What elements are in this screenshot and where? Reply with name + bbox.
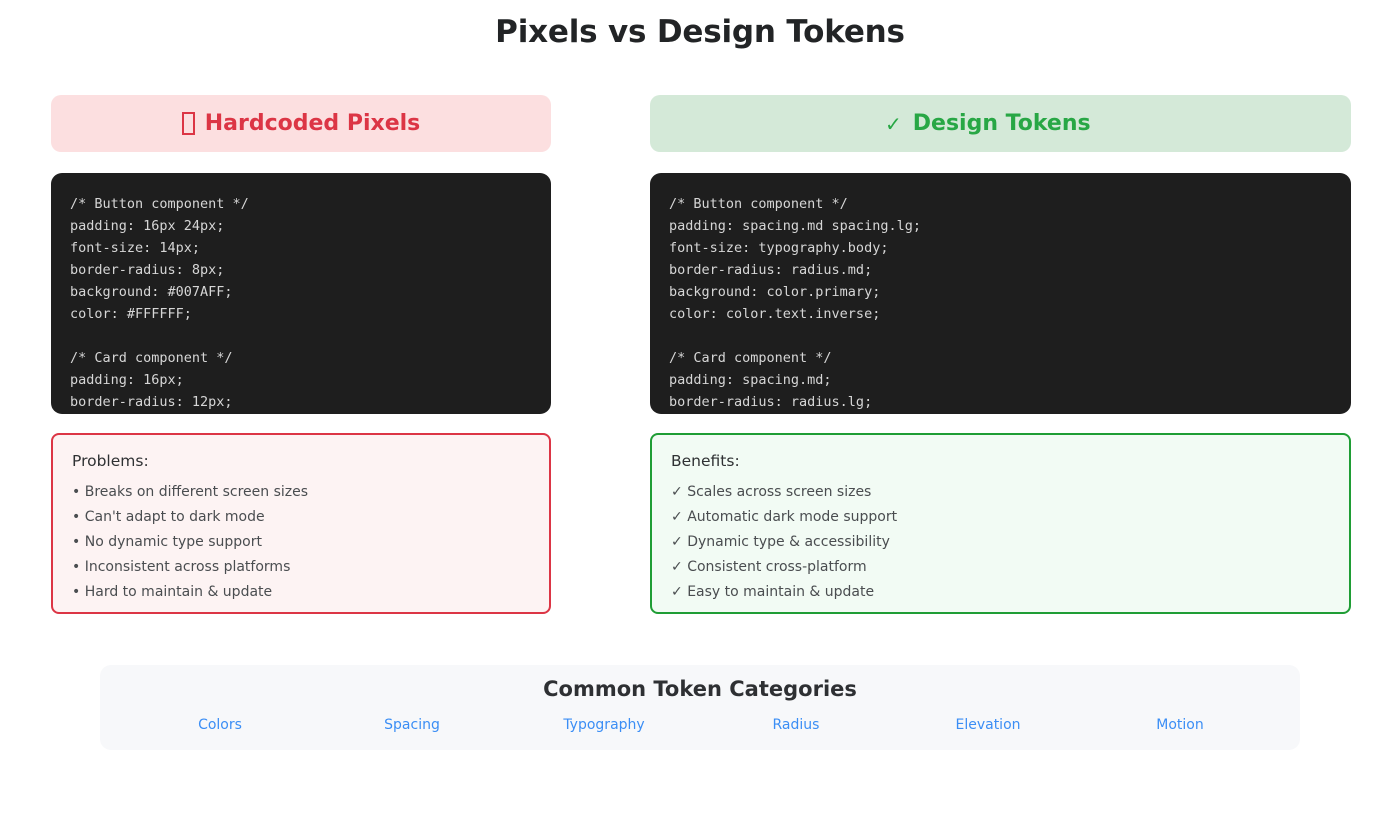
list-item: • Can't adapt to dark mode: [72, 505, 530, 530]
common-token-categories-panel: Common Token Categories Colors Spacing T…: [100, 665, 1300, 750]
category-item-radius[interactable]: Radius: [700, 717, 892, 733]
code-line: color: #FFFFFF;: [70, 303, 532, 325]
category-item-spacing[interactable]: Spacing: [316, 717, 508, 733]
check-mark-icon: ✓: [671, 559, 683, 575]
code-line: padding: 16px 24px;: [70, 215, 532, 237]
problems-title: Problems:: [72, 452, 530, 470]
bullet-icon: •: [72, 559, 80, 575]
design-tokens-header-label: Design Tokens: [913, 111, 1091, 136]
hardcoded-pixels-column: Hardcoded Pixels /* Button component */ …: [51, 95, 551, 614]
categories-row: Colors Spacing Typography Radius Elevati…: [100, 717, 1300, 733]
list-item-label: Automatic dark mode support: [687, 509, 897, 525]
code-line: border-radius: 12px;: [70, 391, 532, 413]
slide-canvas: Pixels vs Design Tokens Hardcoded Pixels…: [0, 0, 1400, 815]
code-line: /* Card component */: [70, 347, 532, 369]
code-line: border-radius: 8px;: [70, 259, 532, 281]
code-line: background: color.primary;: [669, 281, 1332, 303]
hardcoded-pixels-header: Hardcoded Pixels: [51, 95, 551, 152]
list-item-label: Dynamic type & accessibility: [687, 534, 890, 550]
categories-title: Common Token Categories: [100, 677, 1300, 701]
code-line: padding: spacing.md spacing.lg;: [669, 215, 1332, 237]
list-item: ✓ Dynamic type & accessibility: [671, 530, 1330, 555]
list-item: ✓ Easy to maintain & update: [671, 580, 1330, 605]
category-item-motion[interactable]: Motion: [1084, 717, 1276, 733]
problems-box: Problems: • Breaks on different screen s…: [51, 433, 551, 614]
list-item-label: Hard to maintain & update: [85, 584, 272, 600]
code-line: border-radius: radius.md;: [669, 259, 1332, 281]
code-line: padding: spacing.md;: [669, 369, 1332, 391]
list-item-label: Breaks on different screen sizes: [85, 484, 308, 500]
code-line: font-size: typography.body;: [669, 237, 1332, 259]
list-item: • Hard to maintain & update: [72, 580, 530, 605]
check-mark-icon: ✓: [671, 584, 683, 600]
code-line-blank: [669, 325, 1332, 347]
benefits-box: Benefits: ✓ Scales across screen sizes ✓…: [650, 433, 1351, 614]
list-item: ✓ Automatic dark mode support: [671, 505, 1330, 530]
design-tokens-header: ✓ Design Tokens: [650, 95, 1351, 152]
code-line: /* Card component */: [669, 347, 1332, 369]
list-item: • Inconsistent across platforms: [72, 555, 530, 580]
list-item: • No dynamic type support: [72, 530, 530, 555]
list-item: ✓ Scales across screen sizes: [671, 480, 1330, 505]
list-item-label: Scales across screen sizes: [687, 484, 871, 500]
check-mark-icon: ✓: [671, 534, 683, 550]
page-title: Pixels vs Design Tokens: [0, 14, 1400, 50]
design-tokens-column: ✓ Design Tokens /* Button component */ p…: [650, 95, 1351, 614]
code-line: padding: 16px;: [70, 369, 532, 391]
hardcoded-pixels-header-label: Hardcoded Pixels: [205, 111, 421, 136]
bullet-icon: •: [72, 509, 80, 525]
category-item-typography[interactable]: Typography: [508, 717, 700, 733]
bullet-icon: •: [72, 534, 80, 550]
code-line-blank: [70, 325, 532, 347]
code-line: /* Button component */: [669, 193, 1332, 215]
tofu-missing-glyph-icon: [182, 112, 195, 135]
benefits-title: Benefits:: [671, 452, 1330, 470]
category-item-elevation[interactable]: Elevation: [892, 717, 1084, 733]
list-item-label: Inconsistent across platforms: [85, 559, 291, 575]
list-item-label: Consistent cross-platform: [687, 559, 866, 575]
code-line: border-radius: radius.lg;: [669, 391, 1332, 413]
code-line: /* Button component */: [70, 193, 532, 215]
category-item-colors[interactable]: Colors: [124, 717, 316, 733]
code-line: background: #007AFF;: [70, 281, 532, 303]
design-tokens-code-block: /* Button component */ padding: spacing.…: [650, 173, 1351, 414]
bullet-icon: •: [72, 484, 80, 500]
list-item: • Breaks on different screen sizes: [72, 480, 530, 505]
list-item-label: No dynamic type support: [85, 534, 262, 550]
code-line: font-size: 14px;: [70, 237, 532, 259]
list-item-label: Can't adapt to dark mode: [85, 509, 265, 525]
check-mark-icon: ✓: [671, 509, 683, 525]
list-item: ✓ Consistent cross-platform: [671, 555, 1330, 580]
bullet-icon: •: [72, 584, 80, 600]
hardcoded-pixels-code-block: /* Button component */ padding: 16px 24p…: [51, 173, 551, 414]
check-mark-icon: ✓: [671, 484, 683, 500]
list-item-label: Easy to maintain & update: [687, 584, 874, 600]
check-mark-icon: ✓: [885, 112, 902, 136]
code-line: color: color.text.inverse;: [669, 303, 1332, 325]
